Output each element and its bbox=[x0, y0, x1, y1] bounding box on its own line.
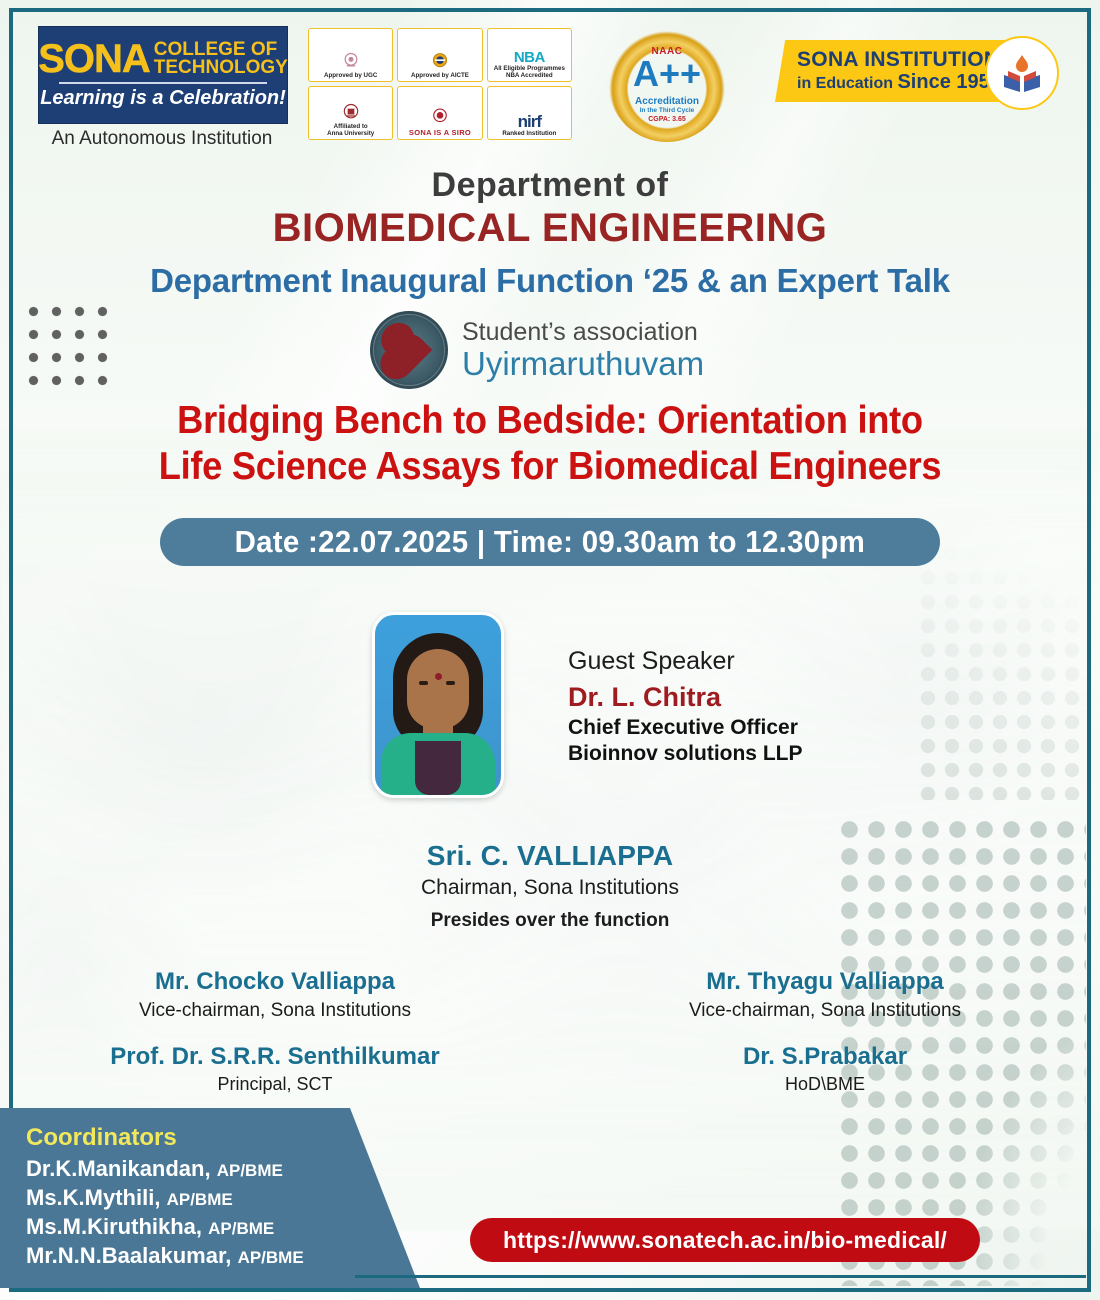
coordinator-4-name: Mr.N.N.Baalakumar, bbox=[26, 1243, 231, 1268]
association-text: Student’s association Uyirmaruthuvam bbox=[462, 319, 704, 382]
badge-nirf-label: Ranked Institution bbox=[502, 130, 556, 137]
principal-block: Prof. Dr. S.R.R. Senthilkumar Principal,… bbox=[0, 1043, 550, 1095]
hod-block: Dr. S.Prabakar HoD\BME bbox=[550, 1043, 1100, 1095]
principal-name: Prof. Dr. S.R.R. Senthilkumar bbox=[0, 1043, 550, 1071]
date-time-text: Date :22.07.2025 | Time: 09.30am to 12.3… bbox=[235, 524, 866, 560]
talk-title-line2: Life Science Assays for Biomedical Engin… bbox=[94, 444, 1005, 490]
badge-aicte: Approved by AICTE bbox=[397, 28, 482, 82]
speaker-collar bbox=[415, 741, 461, 795]
coordinator-3-name: Ms.M.Kiruthikha, bbox=[26, 1214, 202, 1239]
naac-cgpa: CGPA: 3.65 bbox=[608, 116, 726, 123]
uyirmaruthuvam-heart-logo-icon bbox=[370, 311, 448, 389]
speaker-name: Dr. L. Chitra bbox=[568, 681, 803, 714]
website-url-text: https://www.sonatech.ac.in/bio-medical/ bbox=[503, 1227, 947, 1254]
coordinator-2-dept: AP/BME bbox=[167, 1190, 233, 1209]
speaker-eye-left bbox=[419, 681, 428, 685]
vice-chairman-right: Mr. Thyagu Valliappa Vice-chairman, Sona… bbox=[550, 968, 1100, 1022]
vice-chairmen-row: Mr. Chocko Valliappa Vice-chairman, Sona… bbox=[0, 968, 1100, 1022]
coordinator-1-dept: AP/BME bbox=[217, 1161, 283, 1180]
badge-siro: SONA IS A SIRO bbox=[397, 86, 482, 140]
speaker-role: Guest Speaker bbox=[568, 646, 803, 677]
website-url-button[interactable]: https://www.sonatech.ac.in/bio-medical/ bbox=[470, 1218, 980, 1262]
speaker-eye-right bbox=[446, 681, 455, 685]
speaker-photo bbox=[372, 612, 504, 798]
speaker-info: Guest Speaker Dr. L. Chitra Chief Execut… bbox=[568, 646, 803, 767]
coordinators-panel: Coordinators Dr.K.Manikandan, AP/BME Ms.… bbox=[0, 1108, 420, 1288]
badge-nba: NBA All Eligible Programmes NBA Accredit… bbox=[487, 28, 572, 82]
vice-chairman-left-title: Vice-chairman, Sona Institutions bbox=[0, 1000, 550, 1022]
speaker-face bbox=[407, 649, 469, 729]
department-name: BIOMEDICAL ENGINEERING bbox=[0, 206, 1100, 251]
badge-ugc: Approved by UGC bbox=[308, 28, 393, 82]
officials-row: Prof. Dr. S.R.R. Senthilkumar Principal,… bbox=[0, 1043, 1100, 1095]
coordinator-item: Ms.K.Mythili, AP/BME bbox=[26, 1183, 420, 1212]
coordinator-3-dept: AP/BME bbox=[208, 1219, 274, 1238]
association-label: Student’s association bbox=[462, 319, 704, 346]
event-heading: Department Inaugural Function ‘25 & an E… bbox=[0, 262, 1100, 300]
presides-note: Presides over the function bbox=[0, 910, 1100, 932]
hod-title: HoD\BME bbox=[550, 1074, 1100, 1095]
principal-title: Principal, SCT bbox=[0, 1074, 550, 1095]
aicte-emblem-icon bbox=[430, 51, 450, 71]
naac-grade: A++ bbox=[608, 56, 726, 92]
badge-anna-university: Affiliated to Anna University bbox=[308, 86, 393, 140]
logo-divider bbox=[59, 82, 267, 84]
naac-accreditation: Accreditation bbox=[608, 96, 726, 107]
speaker-organisation: Bioinnov solutions LLP bbox=[568, 741, 803, 767]
coordinator-item: Ms.M.Kiruthikha, AP/BME bbox=[26, 1212, 420, 1241]
chairman-name: Sri. C. VALLIAPPA bbox=[0, 840, 1100, 872]
coordinator-item: Dr.K.Manikandan, AP/BME bbox=[26, 1154, 420, 1183]
date-time-bar: Date :22.07.2025 | Time: 09.30am to 12.3… bbox=[160, 518, 940, 566]
coordinator-item: Mr.N.N.Baalakumar, AP/BME bbox=[26, 1241, 420, 1270]
chairman-block: Sri. C. VALLIAPPA Chairman, Sona Institu… bbox=[0, 840, 1100, 900]
naac-cycle: In the Third Cycle bbox=[608, 107, 726, 114]
chairman-title: Chairman, Sona Institutions bbox=[0, 876, 1100, 900]
sona-logo-row: SONA COLLEGE OF TECHNOLOGY bbox=[38, 40, 288, 78]
institutions-subtitle-prefix: in Education bbox=[797, 75, 893, 92]
ugc-emblem-icon bbox=[341, 51, 361, 71]
vice-chairman-left: Mr. Chocko Valliappa Vice-chairman, Sona… bbox=[0, 968, 550, 1022]
sona-college-of-technology: COLLEGE OF TECHNOLOGY bbox=[154, 41, 288, 77]
coordinator-1-name: Dr.K.Manikandan, bbox=[26, 1156, 211, 1181]
speaker-bindi bbox=[435, 673, 442, 680]
vice-chairman-right-name: Mr. Thyagu Valliappa bbox=[550, 968, 1100, 996]
nirf-logo-icon: nirf bbox=[518, 113, 541, 130]
badge-ugc-label: Approved by UGC bbox=[324, 72, 377, 79]
naac-badge: NAAC A++ Accreditation In the Third Cycl… bbox=[608, 24, 726, 142]
nba-logo-icon: NBA bbox=[514, 50, 545, 65]
accreditation-badges: Approved by UGC Approved by AICTE NBA Al… bbox=[308, 28, 572, 140]
coordinator-4-dept: AP/BME bbox=[238, 1248, 304, 1267]
badge-nba-label: All Eligible Programmes NBA Accredited bbox=[494, 65, 565, 79]
book-flame-icon bbox=[998, 49, 1046, 97]
badge-aicte-label: Approved by AICTE bbox=[411, 72, 469, 79]
association-name: Uyirmaruthuvam bbox=[462, 346, 704, 382]
coordinator-2-name: Ms.K.Mythili, bbox=[26, 1185, 160, 1210]
guest-speaker-section: Guest Speaker Dr. L. Chitra Chief Execut… bbox=[372, 612, 972, 802]
dot-grid-left bbox=[22, 300, 114, 392]
department-of-label: Department of bbox=[0, 166, 1100, 205]
vice-chairman-left-name: Mr. Chocko Valliappa bbox=[0, 968, 550, 996]
badge-nirf: nirf Ranked Institution bbox=[487, 86, 572, 140]
talk-title-line1: Bridging Bench to Bedside: Orientation i… bbox=[94, 398, 1005, 444]
bottom-divider bbox=[355, 1275, 1086, 1278]
technology-line: TECHNOLOGY bbox=[154, 59, 288, 77]
poster-header: SONA COLLEGE OF TECHNOLOGY Learning is a… bbox=[0, 0, 1100, 160]
sona-institutions-emblem bbox=[985, 36, 1059, 110]
frame-bottom bbox=[9, 1288, 1091, 1292]
hod-name: Dr. S.Prabakar bbox=[550, 1043, 1100, 1071]
badge-siro-label: SONA IS A SIRO bbox=[409, 128, 471, 137]
sona-wordmark: SONA bbox=[38, 40, 150, 78]
poster-root: SONA COLLEGE OF TECHNOLOGY Learning is a… bbox=[0, 0, 1100, 1300]
talk-title: Bridging Bench to Bedside: Orientation i… bbox=[94, 398, 1005, 490]
badge-anna-label: Affiliated to Anna University bbox=[327, 123, 374, 137]
speaker-designation: Chief Executive Officer bbox=[568, 715, 803, 741]
siro-emblem-icon bbox=[430, 107, 450, 127]
sona-college-logo: SONA COLLEGE OF TECHNOLOGY Learning is a… bbox=[38, 26, 288, 124]
autonomous-institution-label: An Autonomous Institution bbox=[42, 128, 282, 150]
anna-university-emblem-icon bbox=[341, 102, 361, 122]
sona-tagline: Learning is a Celebration! bbox=[40, 87, 286, 110]
vice-chairman-right-title: Vice-chairman, Sona Institutions bbox=[550, 1000, 1100, 1022]
student-association: Student’s association Uyirmaruthuvam bbox=[370, 308, 790, 392]
